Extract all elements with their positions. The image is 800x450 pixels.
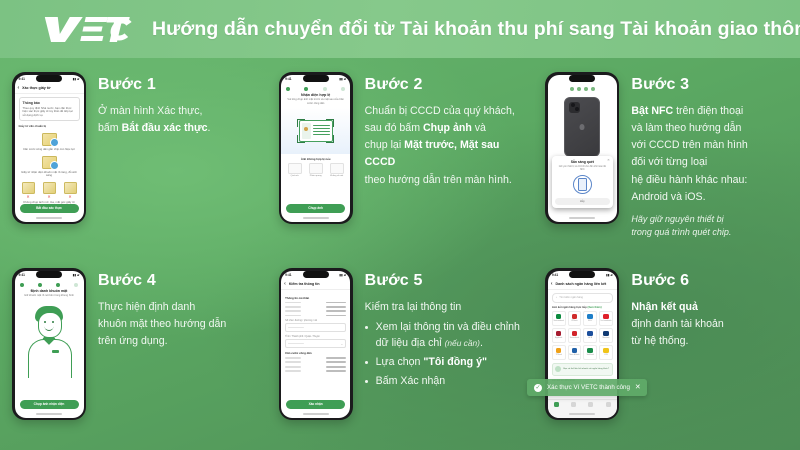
phone-mockup-step-6: 9:41 ▮▮ ▰ ‹ Danh sách ngân hàng liên kết… — [545, 268, 619, 420]
bank-item[interactable]: Techcombank — [599, 311, 613, 326]
screen-title: Định danh khuôn mặt — [15, 289, 84, 293]
province-field-label: Tỉnh / Thành phố / Quận / Huyện — [285, 335, 346, 338]
promo-banner[interactable]: Bạn có thể liên kết nhanh với ngân hàng … — [552, 363, 613, 376]
bank-item[interactable]: ACB — [583, 328, 597, 343]
stepper-dot-1 — [20, 283, 24, 287]
info-row — [285, 361, 346, 363]
bank-item[interactable]: Maritime — [599, 328, 613, 343]
phone-notch — [569, 271, 595, 278]
step-3-line-1-post: trên điện thoại — [673, 105, 743, 117]
caption-2: Giấy tờ nhận diện khuôn mặt rõ ràng, đủ … — [19, 171, 80, 178]
stepper-dot-3 — [56, 283, 60, 287]
step-3-body: Bật NFC trên điện thoại và làm theo hướn… — [631, 103, 794, 206]
step-6-line-1-bold: Nhận kết quả — [631, 301, 698, 313]
step-3-line-6: Android và iOS. — [631, 191, 705, 203]
capture-photo-button[interactable]: Chụp ảnh — [286, 204, 345, 213]
tab-home[interactable] — [554, 402, 559, 407]
step-1-body: Ở màn hình Xác thực, bấm Bắt đầu xác thự… — [98, 103, 261, 137]
section-personal-info: Thông tin cá nhân — [285, 296, 346, 300]
tab-bar — [548, 399, 617, 418]
phone-notch — [303, 271, 329, 278]
step-2-body: Chuẩn bị CCCD của quý khách, sau đó bấm … — [365, 103, 528, 189]
close-icon[interactable]: ✕ — [635, 384, 641, 391]
screen-subtitle: Vui lòng chụp ảnh mặt trước và mặt sau c… — [286, 98, 345, 105]
step-1-text: Bước 1 Ở màn hình Xác thực, bấm Bắt đầu … — [98, 72, 261, 137]
modal-title: Sẵn sàng quét — [555, 160, 610, 164]
step-3-line-1-bold: Bật NFC — [631, 105, 673, 117]
step-4-line-1: Thực hiện định danh — [98, 301, 195, 313]
address-input[interactable] — [285, 323, 346, 332]
step-6-title: Bước 6 — [631, 272, 794, 290]
phone-notch — [303, 75, 329, 82]
modal-cancel-button[interactable]: Hủy — [555, 198, 610, 205]
nfc-phone-icon — [573, 175, 592, 194]
step-4-line-3: trên ứng dụng. — [98, 335, 168, 347]
infographic-stage: Hướng dẫn chuyển đổi từ Tài khoản thu ph… — [0, 0, 800, 450]
check-icon: ✓ — [534, 384, 542, 392]
step-5: 9:41 ▮▮ ▰ ‹ Kiểm tra thông tin Thông tin… — [267, 254, 534, 450]
bullet-3-pre: Bấm Xác nhận — [376, 375, 446, 387]
tab-services[interactable] — [571, 402, 576, 407]
step-6-line-2: định danh tài khoản — [631, 318, 723, 330]
promo-icon — [555, 366, 561, 372]
info-row — [285, 306, 346, 308]
nav-title: Danh sách ngân hàng liên kết — [556, 282, 607, 286]
phone-mockup-step-4: 9:41 ▮▮ ▰ Định danh khuôn mặt Giữ khuôn … — [12, 268, 86, 420]
notice-card: Thông báo Theo quy định Nhà nước, bạn cầ… — [19, 97, 80, 122]
info-row — [285, 357, 346, 359]
bank-item[interactable]: Vietcombank — [552, 311, 566, 326]
step-1: 9:41 ▮▮ ▰ ‹ Xác thực giấy tờ Thông báo T… — [0, 58, 267, 254]
example-3: ✕ — [64, 182, 77, 199]
bank-item[interactable]: Sacombank — [568, 328, 582, 343]
search-icon: ⌕ — [556, 296, 557, 299]
bullet-1: Xem lại thông tin và điều chỉnh dữ liệu … — [365, 320, 528, 352]
document-icon — [42, 133, 57, 146]
tip-2-label: Phản quang — [309, 175, 323, 177]
home-indicator — [569, 413, 595, 415]
bank-item[interactable]: Nam A Bank — [568, 345, 582, 360]
back-arrow-icon[interactable]: ‹ — [551, 282, 553, 287]
bank-section-text: Liên kết ngân hàng trực tiếp — [552, 306, 587, 309]
step-3-note-2: trong quá trình quét chip. — [631, 227, 731, 237]
step-3-text: Bước 3 Bật NFC trên điện thoại và làm th… — [631, 72, 794, 248]
step-3-line-4: đối với từng loại — [631, 156, 707, 168]
step-5-bullets: Xem lại thông tin và điều chỉnh dữ liệu … — [365, 320, 528, 390]
bank-name: Nam A Bank — [570, 354, 580, 356]
status-icons: ▮▮ ▰ — [73, 273, 80, 277]
face-illustration — [15, 298, 84, 378]
tip-3: Không đủ nét — [330, 163, 344, 177]
modal-subtitle: Giữ yên thiết bị và CCCD cho đến khi hoà… — [557, 166, 608, 172]
nav-title: Kiểm tra thông tin — [289, 282, 320, 286]
phone-screen-step-2: 9:41 ▮▮ ▰ Nhận diện hợp lệ Vui lòng chụp… — [281, 75, 350, 222]
nav-bar: ‹ Kiểm tra thông tin — [281, 280, 350, 290]
scan-bracket-br — [326, 135, 334, 143]
steps-grid: 9:41 ▮▮ ▰ ‹ Xác thực giấy tờ Thông báo T… — [0, 58, 800, 450]
document-icon-2 — [42, 156, 57, 169]
tab-wallet[interactable] — [588, 402, 593, 407]
back-arrow-icon[interactable]: ‹ — [284, 282, 286, 287]
step-1-line-2-bold: Bắt đầu xác thực — [122, 122, 208, 134]
step-2-line-4: theo hướng dẫn trên màn hình. — [365, 174, 512, 186]
home-indicator — [36, 413, 62, 415]
step-3-line-2: và làm theo hướng dẫn — [631, 122, 741, 134]
nav-bar: ‹ Xác thực giấy tờ — [15, 84, 84, 94]
info-row — [285, 370, 346, 372]
step-2-title: Bước 2 — [365, 76, 528, 94]
info-row — [285, 366, 346, 368]
scan-area — [281, 108, 350, 154]
status-time: 9:41 — [19, 77, 25, 81]
phone-screen-step-3: Đặt CCCD vào mặt sau điện thoại để bắt đ… — [548, 75, 617, 222]
stepper-dot-3 — [323, 87, 327, 91]
status-icons: ▮▮ ▰ — [339, 77, 346, 81]
bank-name: VPBank — [571, 320, 578, 322]
status-icons: ▮▮ ▰ — [339, 273, 346, 277]
step-4: 9:41 ▮▮ ▰ Định danh khuôn mặt Giữ khuôn … — [0, 254, 267, 450]
info-row — [285, 315, 346, 317]
example-1: ✕ — [22, 182, 35, 199]
nav-bar: ‹ Danh sách ngân hàng liên kết — [548, 280, 617, 290]
nfc-ready-modal: ✕ Sẵn sàng quét Giữ yên thiết bị và CCCD… — [552, 156, 613, 207]
section-id-card: Căn cước công dân — [285, 351, 346, 355]
phone-notch — [36, 75, 62, 82]
step-2-line-2-pre: sau đó bấm — [365, 122, 423, 134]
bank-item[interactable]: LPB — [599, 345, 613, 360]
scan-bracket-tr — [326, 119, 334, 127]
back-arrow-icon[interactable]: ‹ — [18, 86, 20, 91]
success-toast: ✓ Xác thực Ví VETC thành công ✕ — [527, 379, 647, 396]
capture-face-button[interactable]: Chụp ảnh nhận diện — [20, 400, 79, 409]
phone-screen-step-4: 9:41 ▮▮ ▰ Định danh khuôn mặt Giữ khuôn … — [15, 271, 84, 418]
info-row — [285, 310, 346, 312]
confirm-button[interactable]: Xác nhận — [286, 400, 345, 409]
bullet-2: Lựa chọn "Tôi đồng ý" — [365, 355, 528, 371]
screen-content: Thông tin cá nhân Số nhà / đường / phườn… — [281, 290, 350, 378]
stepper-dot-2 — [38, 283, 42, 287]
step-2-text: Bước 2 Chuẩn bị CCCD của quý khách, sau … — [365, 72, 528, 189]
step-6: 9:41 ▮▮ ▰ ‹ Danh sách ngân hàng liên kết… — [533, 254, 800, 450]
status-time: 9:41 — [285, 273, 291, 277]
step-2-line-1: Chuẩn bị CCCD của quý khách, — [365, 105, 515, 117]
step-3-line-3: với CCCD trên màn hình — [631, 139, 747, 151]
step-2-line-2-post: và — [472, 122, 486, 134]
bank-name: BIDV — [588, 320, 592, 322]
id-photo — [302, 123, 311, 139]
home-indicator — [36, 217, 62, 219]
screen-title: Nhận diện hợp lệ — [281, 93, 350, 97]
screen-subtitle: Giữ khuôn mặt rõ nét bên trong khung hìn… — [20, 294, 79, 298]
step-3-title: Bước 3 — [631, 76, 794, 94]
status-time: 9:41 — [285, 77, 291, 81]
brand-logo-icon — [580, 124, 585, 130]
bank-name: Techcombank — [600, 320, 611, 322]
step-1-line-1: Ở màn hình Xác thực, — [98, 105, 203, 117]
step-3: Đặt CCCD vào mặt sau điện thoại để bắt đ… — [533, 58, 800, 254]
tip-1-label: Quá mờ — [288, 175, 302, 177]
screen-content: Thông báo Theo quy định Nhà nước, bạn cầ… — [15, 94, 84, 212]
bank-name: Agribank — [555, 337, 562, 339]
stepper-dot-2 — [304, 87, 308, 91]
camera-module-icon — [569, 102, 580, 113]
page-title: Hướng dẫn chuyển đổi từ Tài khoản thu ph… — [152, 18, 800, 41]
example-2: ✕ — [43, 182, 56, 199]
phone-notch — [569, 75, 595, 82]
phone-notch — [36, 271, 62, 278]
progress-stepper — [281, 84, 350, 93]
step-4-body: Thực hiện định danh khuôn mặt theo hướng… — [98, 299, 261, 350]
close-icon[interactable]: ✕ — [607, 158, 610, 162]
home-indicator — [303, 217, 329, 219]
bullet-2-pre: Lựa chọn — [376, 356, 424, 368]
phone-mockup-step-2: 9:41 ▮▮ ▰ Nhận diện hợp lệ Vui lòng chụp… — [279, 72, 353, 224]
step-4-text: Bước 4 Thực hiện định danh khuôn mặt the… — [98, 268, 261, 350]
bank-name: Sacombank — [570, 337, 580, 339]
step-4-title: Bước 4 — [98, 272, 261, 290]
invalid-examples: ✕ ✕ ✕ — [19, 182, 80, 199]
phone-mockup-step-1: 9:41 ▮▮ ▰ ‹ Xác thực giấy tờ Thông báo T… — [12, 72, 86, 224]
status-icons: ▮▮ ▰ — [73, 77, 80, 81]
tip-3-label: Không đủ nét — [330, 175, 344, 177]
tips-row: Quá mờ Phản quang Không đủ nét — [281, 163, 350, 177]
info-row — [285, 302, 346, 304]
bank-item[interactable]: BIDV — [583, 311, 597, 326]
chevron-down-icon: ⌄ — [341, 342, 344, 346]
status-time: 9:41 — [552, 273, 558, 277]
step-5-text: Bước 5 Kiểm tra lại thông tin Xem lại th… — [365, 268, 528, 393]
bank-name: Vietcombank — [554, 320, 564, 322]
step-6-line-3: từ hệ thống. — [631, 335, 688, 347]
notice-title: Thông báo — [23, 101, 76, 105]
step-2-line-3-pre: chụp lại — [365, 139, 404, 151]
bank-item[interactable]: Agribank — [552, 328, 566, 343]
face-eye-right — [52, 321, 54, 323]
status-time: 9:41 — [19, 273, 25, 277]
promo-text: Bạn có thể liên kết nhanh với ngân hàng … — [563, 368, 609, 371]
address-field-label: Số nhà / đường / phường / xã — [285, 319, 346, 322]
section-label: Giấy tờ cần chuẩn bị — [19, 125, 80, 129]
bullet-1-note: (nếu cần) — [445, 338, 480, 348]
notice-body: Theo quy định Nhà nước, bạn cần thực hiệ… — [23, 107, 76, 118]
tab-account[interactable] — [606, 402, 611, 407]
bank-name: TPBank — [556, 354, 562, 356]
step-2: 9:41 ▮▮ ▰ Nhận diện hợp lệ Vui lòng chụp… — [267, 58, 534, 254]
bank-name: LPB — [604, 354, 607, 356]
face-body — [28, 339, 72, 378]
search-input[interactable]: ⌕ Tìm kiếm ngân hàng — [552, 293, 613, 303]
status-icons: ▮▮ ▰ — [606, 273, 613, 277]
stepper-dot-4 — [74, 283, 78, 287]
bank-item[interactable]: TPBank — [552, 345, 566, 360]
phone-back-illustration — [564, 97, 600, 157]
tip-2: Phản quang — [309, 163, 323, 177]
bank-name: VietBank — [587, 354, 594, 356]
phone-mockup-step-3: Đặt CCCD vào mặt sau điện thoại để bắt đ… — [545, 72, 619, 224]
phone-mockup-step-5: 9:41 ▮▮ ▰ ‹ Kiểm tra thông tin Thông tin… — [279, 268, 353, 420]
tips-title: Ảnh không hợp lệ nếu — [281, 157, 350, 161]
step-1-title: Bước 1 — [98, 76, 261, 94]
step-2-line-2-bold: Chụp ảnh — [423, 122, 472, 134]
bullet-1-post: . — [480, 337, 483, 349]
page-header: Hướng dẫn chuyển đổi từ Tài khoản thu ph… — [0, 0, 800, 58]
nav-title: Xác thực giấy tờ — [22, 86, 50, 90]
face-badge — [52, 350, 59, 353]
caption-1: Căn cước công dân gắn chip còn hiệu lực — [19, 148, 80, 152]
stepper-dot-1 — [286, 87, 290, 91]
bank-section-link[interactable]: (Xem thêm) — [587, 306, 601, 309]
bank-grid: Vietcombank VPBank BIDV Techcombank Agri… — [548, 311, 617, 360]
bank-section-label: Liên kết ngân hàng trực tiếp (Xem thêm) — [552, 306, 613, 309]
step-3-note: Hãy giữ nguyên thiết bị trong quá trình … — [631, 213, 794, 239]
step-6-text: Bước 6 Nhận kết quả định danh tài khoản … — [631, 268, 794, 350]
bullet-2-bold: "Tôi đồng ý" — [423, 356, 487, 368]
phone-screen-step-1: 9:41 ▮▮ ▰ ‹ Xác thực giấy tờ Thông báo T… — [15, 75, 84, 222]
face-avatar-icon — [26, 304, 72, 378]
step-4-line-2: khuôn mặt theo hướng dẫn — [98, 318, 226, 330]
start-verification-button[interactable]: Bắt đầu xác thực — [20, 204, 79, 213]
step-6-body: Nhận kết quả định danh tài khoản từ hệ t… — [631, 299, 794, 350]
step-3-note-1: Hãy giữ nguyên thiết bị — [631, 214, 723, 224]
step-3-line-5: hệ điều hành khác nhau: — [631, 174, 747, 186]
progress-stepper — [15, 280, 84, 289]
bank-name: ACB — [588, 337, 592, 339]
step-5-title: Bước 5 — [365, 272, 528, 290]
bank-item[interactable]: VietBank — [583, 345, 597, 360]
home-indicator — [303, 413, 329, 415]
vetc-logo — [38, 12, 134, 46]
search-placeholder: Tìm kiếm ngân hàng — [559, 296, 583, 299]
bank-name: Maritime — [603, 337, 610, 339]
phone-screen-step-5: 9:41 ▮▮ ▰ ‹ Kiểm tra thông tin Thông tin… — [281, 271, 350, 418]
step-1-line-2-pre: bấm — [98, 122, 122, 134]
home-indicator — [569, 217, 595, 219]
bank-item[interactable]: VPBank — [568, 311, 582, 326]
bullet-3: Bấm Xác nhận — [365, 374, 528, 390]
stepper-dot-4 — [341, 87, 345, 91]
step-5-intro: Kiểm tra lại thông tin — [365, 299, 528, 316]
province-select[interactable]: ⌄ — [285, 339, 346, 348]
toast-message: Xác thực Ví VETC thành công — [547, 384, 630, 391]
tip-1: Quá mờ — [288, 163, 302, 177]
step-1-line-2-post: . — [208, 122, 211, 134]
